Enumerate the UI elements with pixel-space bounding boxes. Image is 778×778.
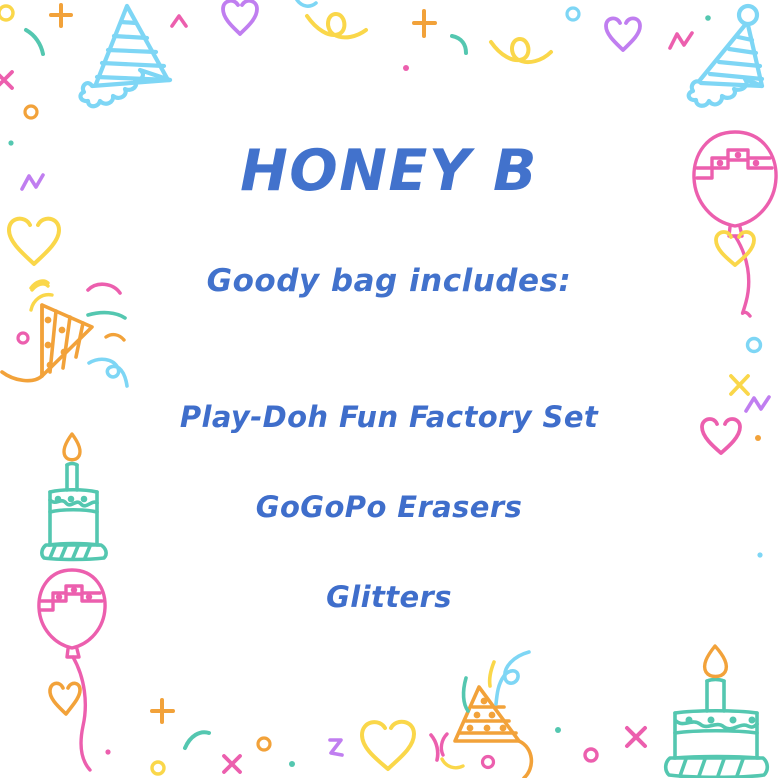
list-item: GoGoPo Erasers: [0, 493, 778, 522]
list-item: Glitters: [0, 583, 778, 612]
subtitle: Goody bag includes:: [0, 266, 778, 297]
list-item: Play-Doh Fun Factory Set: [0, 403, 778, 432]
card-text-layer: HONEY B Goody bag includes: Play-Doh Fun…: [0, 0, 778, 778]
page-title: HONEY B: [0, 143, 778, 200]
goody-bag-card: HONEY B Goody bag includes: Play-Doh Fun…: [0, 0, 778, 778]
